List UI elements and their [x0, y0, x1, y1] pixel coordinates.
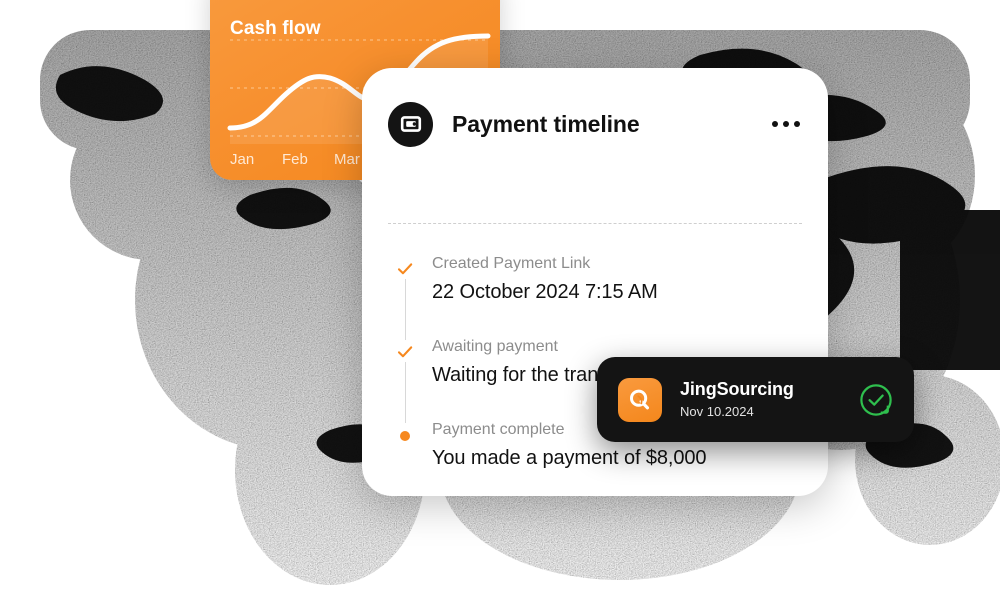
- timeline-item-value: 22 October 2024 7:15 AM: [432, 278, 808, 306]
- timeline-item-label: Awaiting payment: [432, 336, 808, 358]
- timeline-item-value: You made a payment of $8,000: [432, 444, 808, 472]
- x-tick-jan: Jan: [230, 151, 282, 168]
- timeline-connector: [405, 279, 406, 340]
- x-tick-feb: Feb: [282, 151, 334, 168]
- check-icon: [397, 344, 413, 360]
- toast-title: JingSourcing: [680, 378, 794, 400]
- toast-text-block: JingSourcing Nov 10.2024: [680, 378, 794, 422]
- promo-composition: Cash flow Jan Feb Mar: [0, 0, 1000, 606]
- dot-icon: [400, 431, 410, 441]
- page-title: Payment timeline: [452, 111, 640, 138]
- notification-toast[interactable]: JingSourcing Nov 10.2024: [597, 357, 914, 442]
- ellipsis-icon[interactable]: [770, 115, 802, 133]
- card-header: Payment timeline: [388, 100, 802, 148]
- magnifier-q-icon: [618, 378, 662, 422]
- timeline-connector: [405, 362, 406, 423]
- check-circle-icon: [859, 383, 893, 417]
- wallet-card-icon: [388, 102, 433, 147]
- check-icon: [397, 261, 413, 277]
- toast-date: Nov 10.2024: [680, 402, 794, 422]
- timeline-item-label: Created Payment Link: [432, 253, 808, 275]
- timeline-item-created-payment-link[interactable]: Created Payment Link 22 October 2024 7:1…: [388, 253, 808, 336]
- header-divider: [388, 223, 802, 224]
